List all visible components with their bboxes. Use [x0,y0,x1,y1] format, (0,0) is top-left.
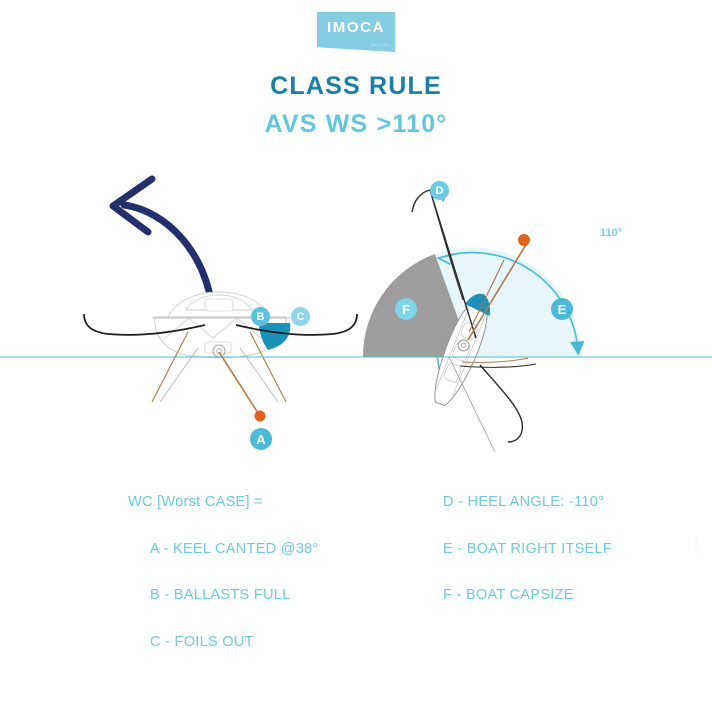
heeled-rudder [449,357,495,452]
logo-wordmark: IMOCA [317,19,395,36]
badge-f[interactable]: F [395,298,417,320]
imoca-logo: IMOCA est.1991 [317,12,395,58]
badge-e-label: E [558,302,567,317]
legend-column-right: D - HEEL ANGLE: -110° E - BOAT RIGHT ITS… [443,495,612,635]
heeled-hull-lower-sweep [480,365,522,442]
page-subtitle: AVS WS >110° [0,112,712,137]
badge-c-label: C [297,311,305,323]
header: IMOCA est.1991 CLASS RULE AVS WS >110° [0,0,712,137]
watermark: IMOCA [694,537,699,554]
legend-item-c: C - FOILS OUT [128,635,319,650]
legend-item-d: D - HEEL ANGLE: -110° [443,495,612,510]
infographic-page: IMOCA est.1991 CLASS RULE AVS WS >110° [0,0,712,712]
badge-d-label: D [436,185,444,197]
page-title: CLASS RULE [0,74,712,99]
upright-keel-fin [219,352,258,413]
legend-item-a: A - KEEL CANTED @38° [128,542,319,557]
heeled-keel-bulb [518,234,530,246]
legend-item-b: B - BALLASTS FULL [128,588,319,603]
legend: WC [Worst CASE] = A - KEEL CANTED @38° B… [0,495,712,685]
badge-b[interactable]: B [251,307,270,326]
legend-item-f: F - BOAT CAPSIZE [443,588,612,603]
logo-subtext: est.1991 [371,42,391,47]
legend-item-wc: WC [Worst CASE] = [128,495,319,510]
badge-b-label: B [257,311,265,323]
upright-boat [152,292,290,358]
badge-e[interactable]: E [551,298,573,320]
heeled-mast-tip-curve [412,190,430,212]
badge-f-label: F [402,302,410,317]
upright-keel-pivot [213,345,225,357]
badge-a-label: A [256,432,265,447]
diagram-stage: 110° [0,160,712,480]
badge-d[interactable]: D [430,181,449,200]
heel-angle-value: 110° [600,227,622,239]
legend-item-e: E - BOAT RIGHT ITSELF [443,542,612,557]
badge-c[interactable]: C [291,307,310,326]
upright-hatch [205,299,233,311]
legend-column-left: WC [Worst CASE] = A - KEEL CANTED @38° B… [128,495,319,681]
upright-keel-bulb [255,411,266,422]
badge-a[interactable]: A [250,428,272,450]
